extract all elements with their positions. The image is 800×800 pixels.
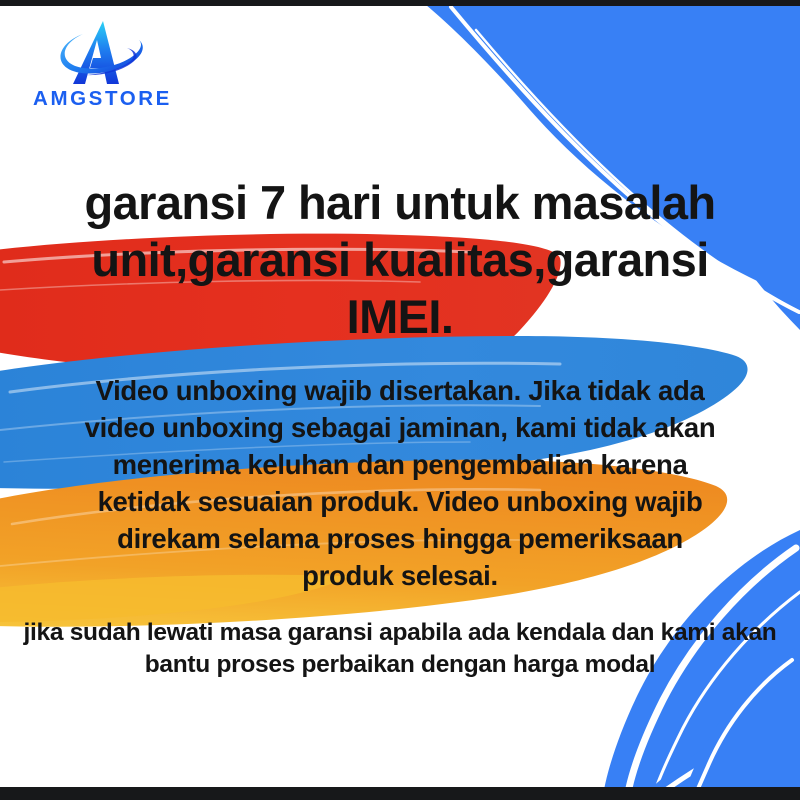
top-frame-bar bbox=[0, 0, 800, 6]
amgstore-a-orbit-icon bbox=[57, 18, 149, 88]
footnote-text: jika sudah lewati masa garansi apabila a… bbox=[0, 617, 800, 681]
bottom-right-blue-brush-outer bbox=[640, 700, 800, 798]
headline-text: garansi 7 hari untuk masalah unit,garans… bbox=[0, 174, 800, 345]
body-text: Video unboxing wajib disertakan. Jika ti… bbox=[0, 372, 800, 594]
brand-logo: AMGSTORE bbox=[30, 18, 175, 110]
bottom-frame-bar bbox=[0, 787, 800, 800]
poster-canvas: AMGSTORE garansi 7 hari untuk masalah un… bbox=[0, 0, 800, 800]
brand-wordmark: AMGSTORE bbox=[30, 89, 175, 110]
